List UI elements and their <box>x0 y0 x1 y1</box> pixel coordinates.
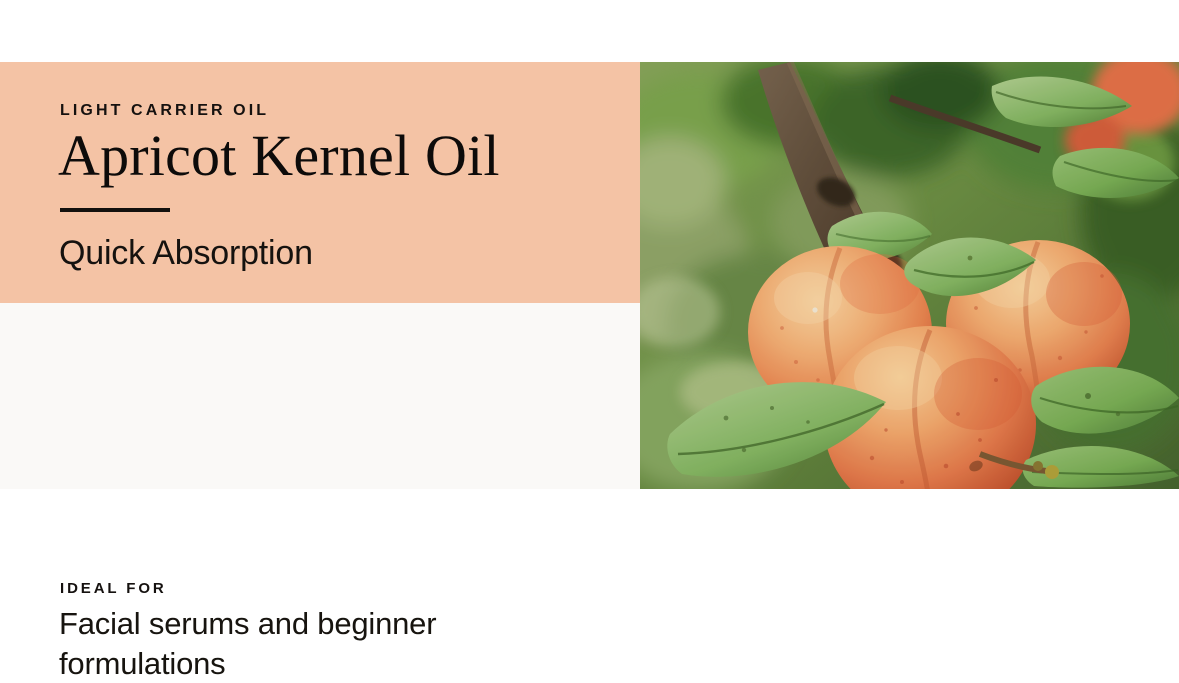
eyebrow-label-top: LIGHT CARRIER OIL <box>60 103 269 119</box>
body-description: Facial serums and beginner formulations <box>59 604 559 683</box>
eyebrow-label-bottom: IDEAL FOR <box>60 581 167 596</box>
apricot-photo <box>640 62 1179 489</box>
page-title: Apricot Kernel Oil <box>58 125 500 186</box>
divider-rule <box>60 208 170 212</box>
product-info-card: LIGHT CARRIER OIL Apricot Kernel Oil Qui… <box>0 62 1179 489</box>
subheading: Quick Absorption <box>59 234 313 273</box>
peach-panel: LIGHT CARRIER OIL Apricot Kernel Oil Qui… <box>0 62 640 303</box>
cream-panel: IDEAL FOR Facial serums and beginner for… <box>0 303 640 489</box>
text-column: LIGHT CARRIER OIL Apricot Kernel Oil Qui… <box>0 62 640 489</box>
apricot-photo-illustration <box>640 62 1179 489</box>
